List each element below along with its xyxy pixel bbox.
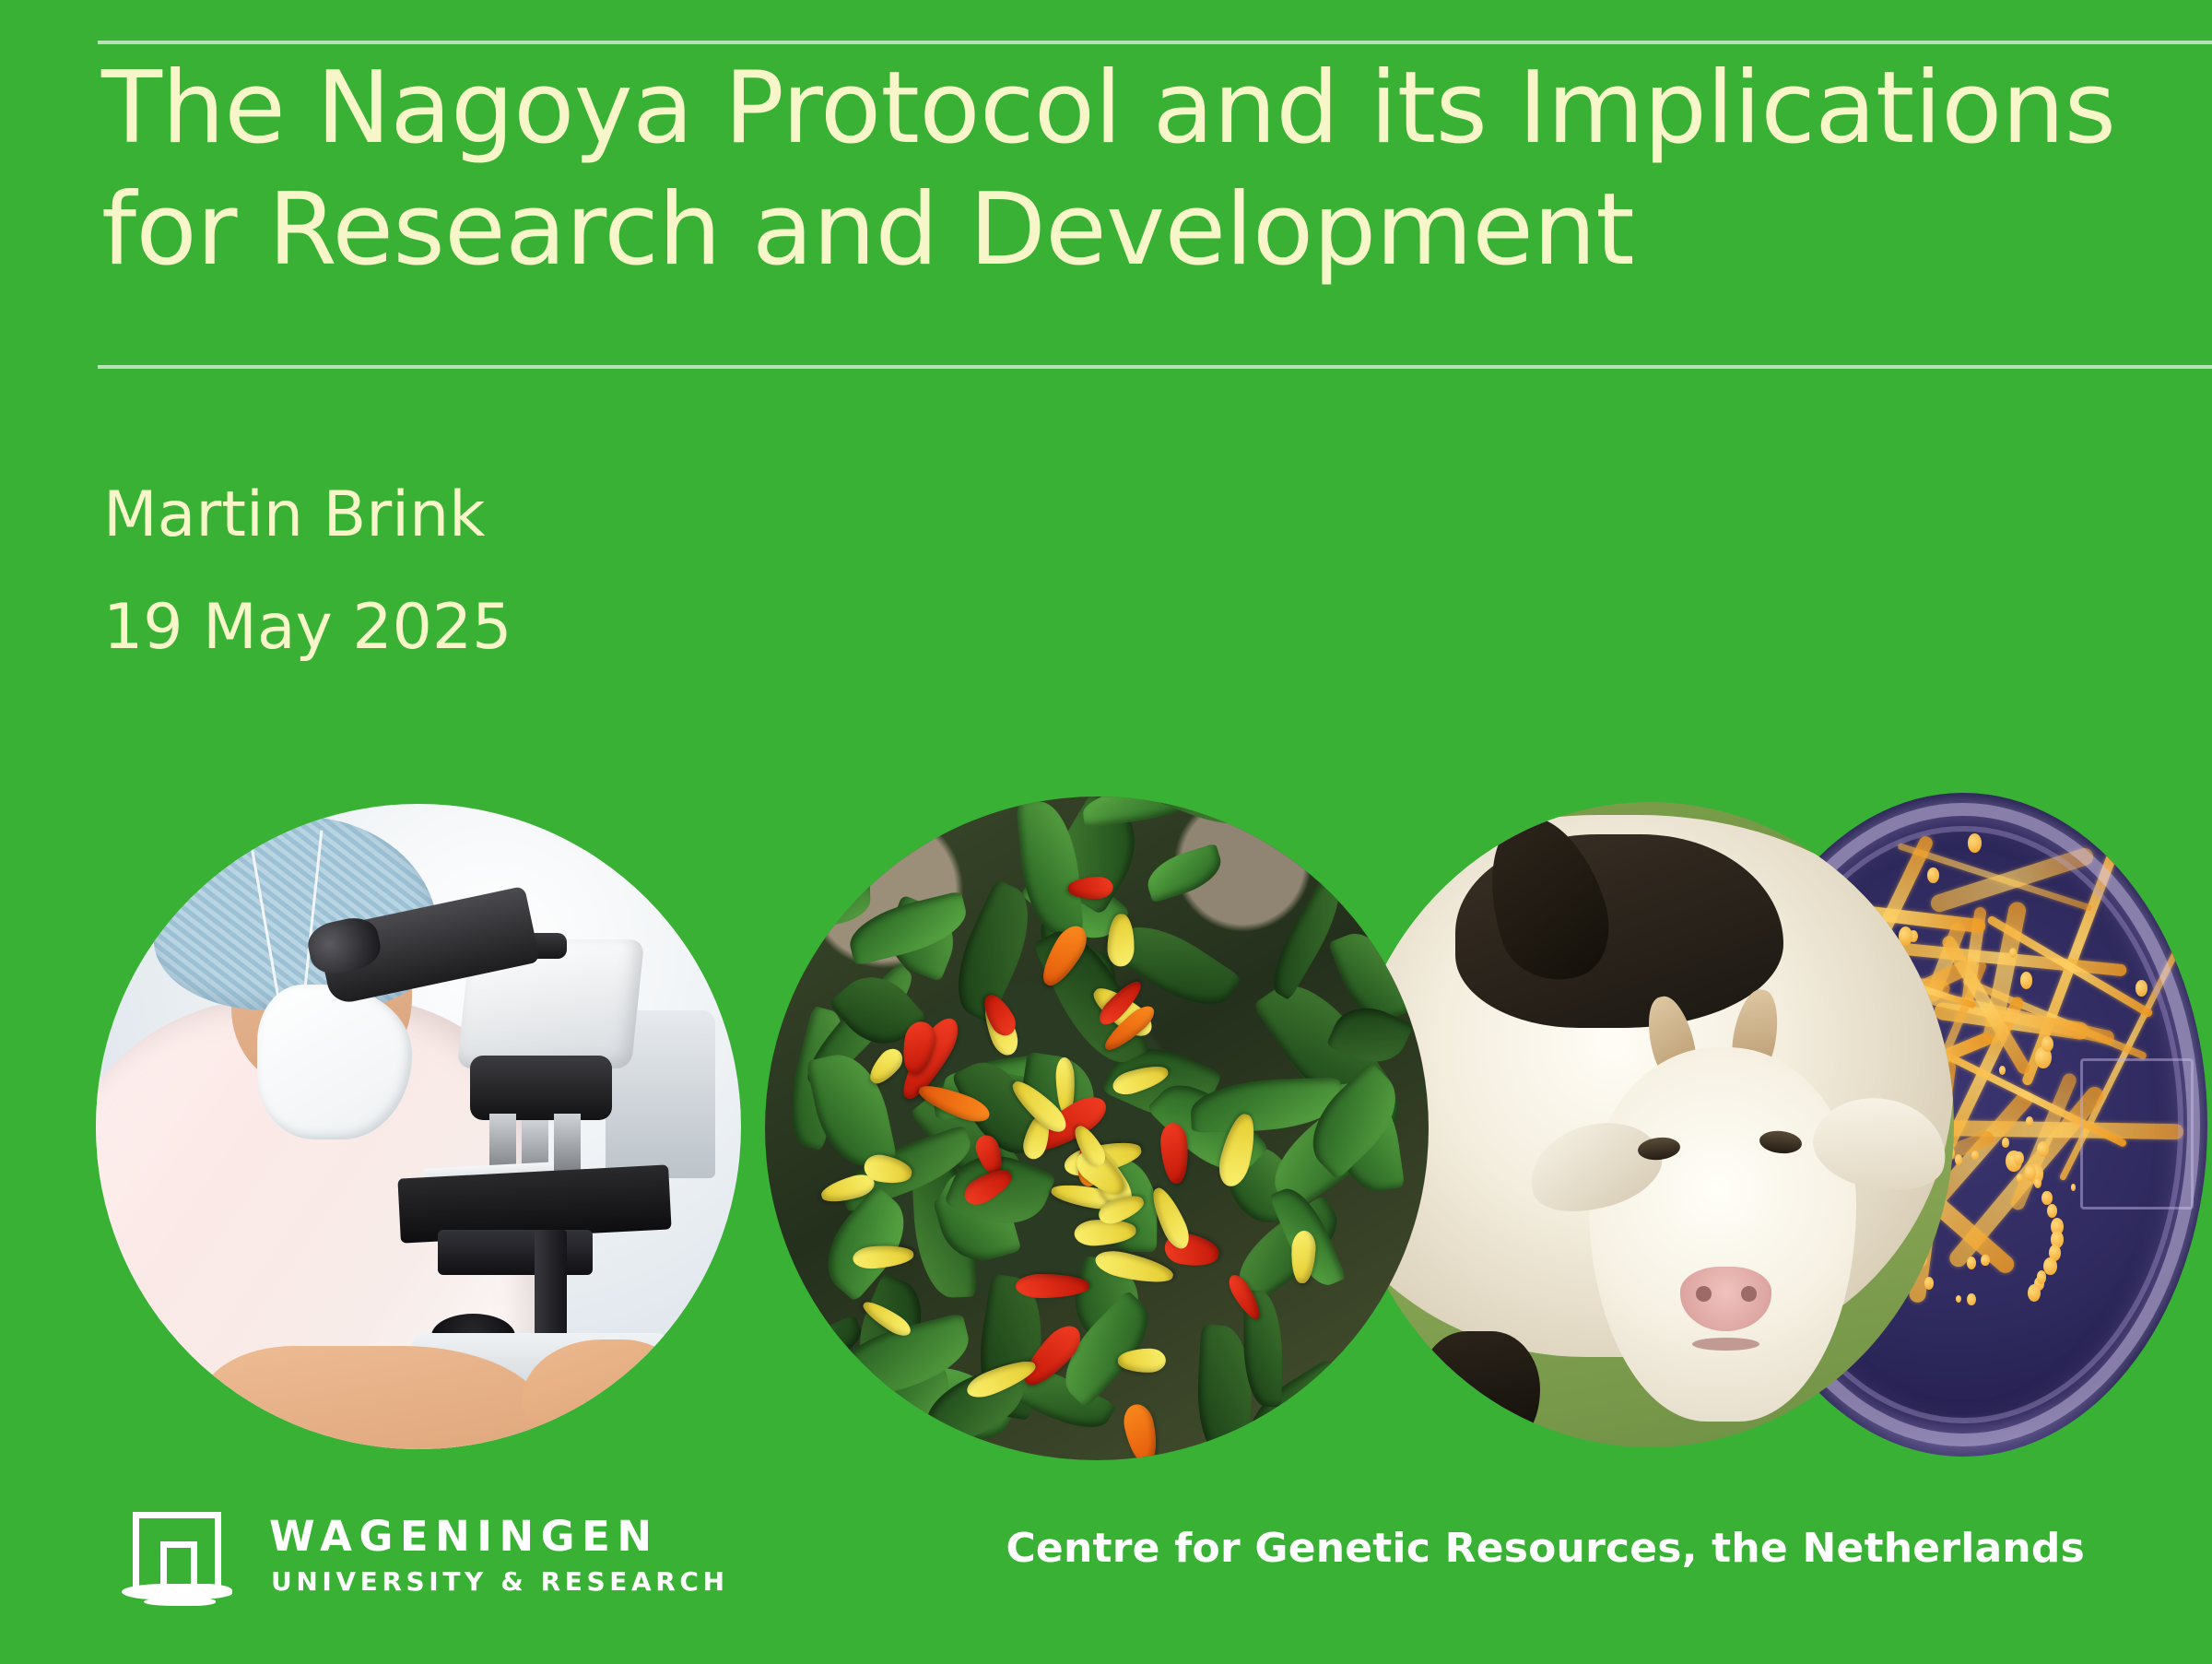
logo-subtitle: UNIVERSITY & RESEARCH (271, 1569, 729, 1595)
author-name: Martin Brink (103, 478, 486, 553)
wageningen-arch-mark-icon (120, 1512, 236, 1600)
face-mask (257, 985, 412, 1139)
goat-dark-leg (1418, 1331, 1540, 1447)
slide-title: The Nagoya Protocol and its Implications… (101, 48, 2157, 291)
title-rule-bottom (98, 365, 2212, 369)
goat-head (1589, 1047, 1856, 1422)
image-goat (1346, 802, 1954, 1447)
goat-nostril-right (1741, 1286, 1757, 1302)
presentation-slide: The Nagoya Protocol and its Implications… (0, 0, 2212, 1664)
microscope-nosepiece (470, 1056, 612, 1120)
image-microscope-scientist (96, 804, 741, 1449)
logo-brushstroke-shape (120, 1582, 236, 1610)
chili-pepper (1118, 1348, 1166, 1373)
wageningen-logo: WAGENINGEN UNIVERSITY & RESEARCH (103, 1510, 739, 1632)
title-rule-top (98, 41, 2212, 44)
footer-organisation: Centre for Genetic Resources, the Nether… (1006, 1525, 2085, 1572)
microscope-condenser (438, 1230, 593, 1275)
goat-mouth (1692, 1338, 1759, 1351)
logo-wordmark: WAGENINGEN (269, 1516, 659, 1557)
image-chili-pepper-plant (765, 797, 1429, 1460)
scientist-hand (522, 1339, 689, 1443)
presentation-date: 19 May 2025 (103, 590, 512, 666)
image-band (0, 793, 2212, 1457)
goat-nostril-left (1696, 1286, 1712, 1302)
